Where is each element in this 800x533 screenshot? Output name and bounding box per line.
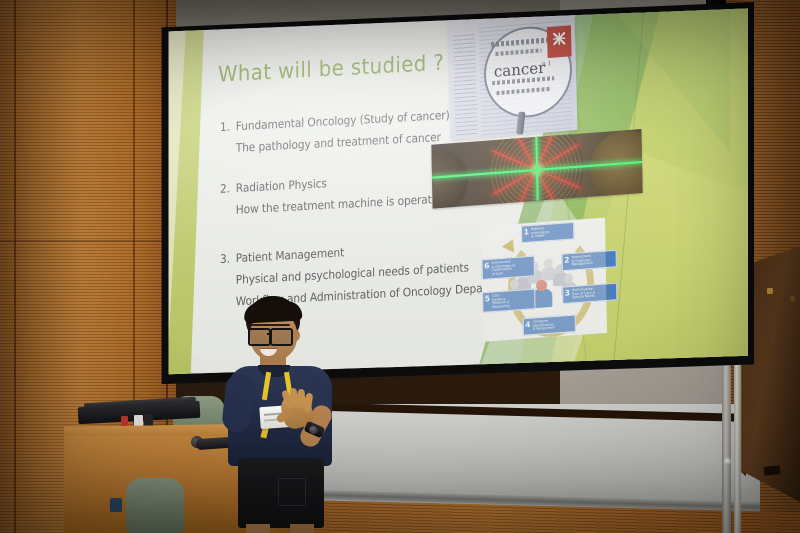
shorts-pocket (278, 478, 306, 506)
workflow-washout (481, 218, 607, 342)
slide-title: What will be studied ? (218, 50, 444, 87)
eyeglasses-bridge (267, 333, 272, 335)
book-badge-mark-icon (553, 32, 565, 45)
bullet-number: 2. (220, 181, 236, 196)
book-text-column (453, 31, 478, 136)
slide-image-workflow: 1Referral Information & Intake 2Assessme… (481, 218, 607, 342)
presenter-brow (250, 324, 290, 326)
wall-seam (14, 0, 16, 533)
presenter-ear (292, 330, 300, 341)
board-clip (764, 465, 781, 476)
slide-bullet-2: 2.Radiation Physics (220, 176, 327, 196)
book-lens-word-sup: n 1 (542, 60, 552, 68)
presenter-leg (246, 524, 270, 533)
chair (126, 478, 184, 533)
board-screw (767, 288, 773, 294)
bullet-heading: Radiation Physics (236, 176, 327, 195)
slide-bullet-2-subline: How the treatment machine is operated (220, 191, 445, 217)
slide-bullet-3: 3.Patient Management (220, 245, 344, 266)
eyeglasses-icon (248, 328, 271, 346)
wall-seam (0, 240, 176, 242)
bullet-number: 1. (220, 119, 236, 134)
red-marker (121, 416, 128, 427)
rail-knob (724, 458, 731, 465)
presenter-leg (290, 524, 314, 533)
bullet-number: 3. (220, 251, 236, 266)
dark-object (144, 414, 153, 427)
eyeglasses-icon (270, 328, 293, 346)
presenter (222, 296, 342, 533)
slide-image-book-cover: cancer n 1 (448, 9, 577, 140)
presenter-hair-fringe (244, 300, 303, 323)
bullet-heading: Patient Management (236, 245, 344, 265)
cup (110, 498, 122, 512)
board-screw (790, 296, 795, 301)
white-marker (134, 415, 143, 427)
slide-bullet-1-subline: The pathology and treatment of cancer (220, 130, 441, 156)
bullet-heading: Fundamental Oncology (Study of cancer) (236, 108, 450, 134)
lecture-photo-scene: What will be studied ? 1.Fundamental Onc… (0, 0, 800, 533)
